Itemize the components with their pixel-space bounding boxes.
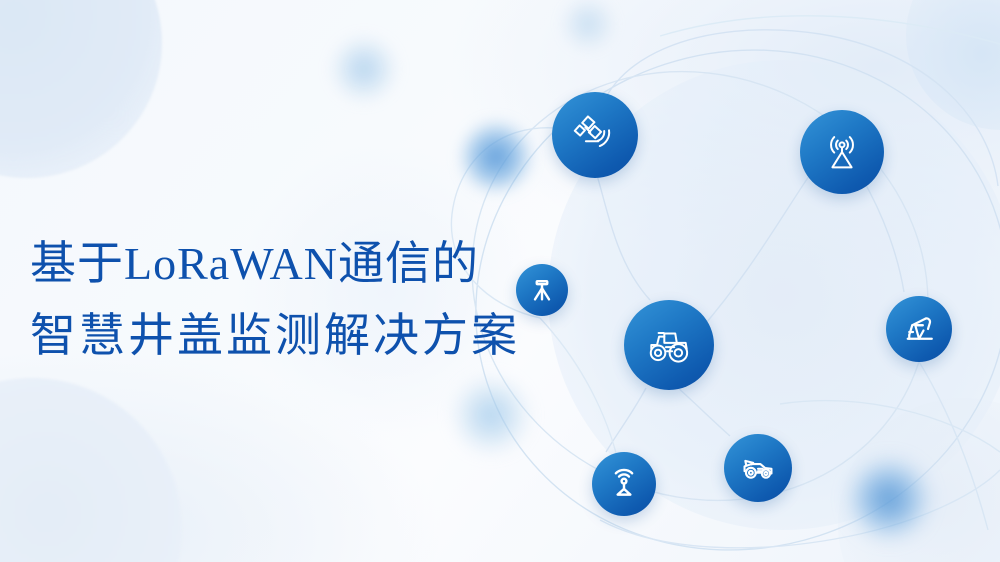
accent-dot-mid-left <box>452 376 530 454</box>
icon-bubble-satellite[interactable] <box>552 92 638 178</box>
accent-dot-upper-left-of-satellite <box>459 120 533 194</box>
icon-bubble-oil-pumpjack[interactable] <box>886 296 952 362</box>
harvester-vehicle-icon <box>739 449 777 487</box>
blob-top-right-corner <box>906 0 1000 130</box>
wireless-sensor-icon <box>607 467 641 501</box>
title-line-2: 智慧井盖监测解决方案 <box>30 300 590 372</box>
icon-bubble-radio-tower[interactable] <box>800 110 884 194</box>
accent-dot-bottom-right <box>848 458 930 540</box>
radio-tower-icon <box>819 129 865 175</box>
oil-pumpjack-icon <box>901 311 937 347</box>
title-line-1: 基于LoRaWAN通信的 <box>30 228 590 300</box>
blob-top-left <box>0 0 162 178</box>
blob-bottom-left <box>0 378 182 562</box>
icon-bubble-wireless-sensor[interactable] <box>592 452 656 516</box>
cover-slide: 基于LoRaWAN通信的 智慧井盖监测解决方案 <box>0 0 1000 562</box>
accent-dot-top-center-small <box>560 0 616 52</box>
satellite-signal-icon <box>572 112 618 158</box>
tractor-icon <box>644 320 694 370</box>
icon-bubble-harvester-vehicle[interactable] <box>724 434 792 502</box>
accent-dot-top-center <box>331 36 397 102</box>
slide-title: 基于LoRaWAN通信的 智慧井盖监测解决方案 <box>30 228 590 372</box>
blob-bottom-right <box>838 398 1000 562</box>
icon-bubble-tractor[interactable] <box>624 300 714 390</box>
icon-bubble-survey-tripod[interactable] <box>516 264 568 316</box>
survey-tripod-icon <box>528 276 556 304</box>
